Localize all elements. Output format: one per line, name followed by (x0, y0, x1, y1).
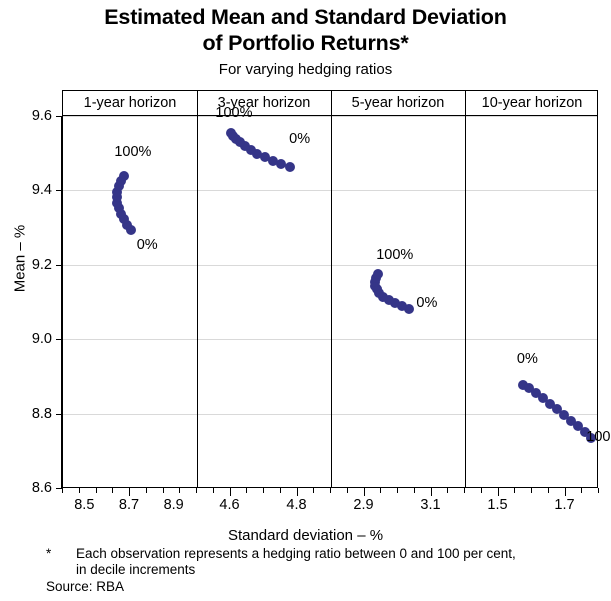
x-tick-minor (280, 488, 281, 493)
x-tick-minor (246, 488, 247, 493)
footnote-line1: Each observation represents a hedging ra… (76, 546, 516, 562)
chart-subtitle: For varying hedging ratios (0, 61, 611, 78)
x-tick-minor (213, 488, 214, 493)
annotation-0pct: 0% (137, 237, 158, 253)
x-tick-minor (481, 488, 482, 493)
x-tick-minor (347, 488, 348, 493)
annotation-100pct: 100% (586, 429, 611, 445)
panel-divider (465, 116, 466, 487)
footnote-line2: in decile increments (76, 562, 195, 578)
y-tick (56, 414, 62, 415)
y-tick (56, 190, 62, 191)
panel-divider (197, 116, 198, 487)
x-tick-label: 3.1 (408, 497, 454, 513)
panel-header-divider (197, 91, 198, 115)
x-tick-minor (380, 488, 381, 493)
x-tick-minor (79, 488, 80, 493)
plot-area: 100%0%100%0%100%0%0%100% (62, 116, 598, 488)
data-point (119, 171, 129, 181)
source-note: Source: RBA (46, 579, 124, 595)
y-tick-label: 9.6 (6, 109, 52, 123)
x-tick-minor (464, 488, 465, 493)
annotation-100pct: 100% (215, 105, 252, 121)
panel-header-3: 5-year horizon (331, 91, 465, 115)
data-point (226, 128, 236, 138)
x-tick-minor (598, 488, 599, 493)
y-tick (56, 265, 62, 266)
x-tick-label: 4.6 (207, 497, 253, 513)
panel-header-divider (331, 91, 332, 115)
x-tick-minor (196, 488, 197, 493)
chart-title-line1: Estimated Mean and Standard Deviation (0, 5, 611, 30)
annotation-0pct: 0% (289, 131, 310, 147)
x-tick-label: 8.5 (61, 497, 107, 513)
y-tick-label: 8.8 (6, 407, 52, 421)
x-tick-label: 8.9 (151, 497, 197, 513)
gridline (63, 265, 597, 266)
x-tick-major (431, 488, 432, 496)
x-tick-label: 4.8 (274, 497, 320, 513)
x-tick-label: 2.9 (341, 497, 387, 513)
panel-header-4: 10-year horizon (465, 91, 599, 115)
gridline (63, 190, 597, 191)
x-tick-label: 8.7 (106, 497, 152, 513)
y-axis-label: Mean – % (12, 179, 29, 339)
x-tick-major (230, 488, 231, 496)
annotation-100pct: 100% (114, 144, 151, 160)
x-tick-minor (514, 488, 515, 493)
gridline (63, 414, 597, 415)
x-tick-minor (447, 488, 448, 493)
panel-header-strip: 1-year horizon3-year horizon5-year horiz… (62, 90, 598, 116)
chart-figure: Estimated Mean and Standard Deviation of… (0, 0, 611, 601)
x-tick-major (565, 488, 566, 496)
x-tick-minor (581, 488, 582, 493)
data-point (373, 269, 383, 279)
x-tick-major (297, 488, 298, 496)
x-tick-major (364, 488, 365, 496)
panel-header-divider (465, 91, 466, 115)
annotation-100pct: 100% (376, 247, 413, 263)
x-tick-minor (179, 488, 180, 493)
x-tick-minor (112, 488, 113, 493)
y-tick (56, 339, 62, 340)
panel-header-1: 1-year horizon (63, 91, 197, 115)
x-tick-minor (531, 488, 532, 493)
y-tick (56, 116, 62, 117)
chart-title-line2: of Portfolio Returns* (0, 31, 611, 56)
x-tick-minor (414, 488, 415, 493)
x-tick-label: 1.7 (542, 497, 588, 513)
x-tick-major (498, 488, 499, 496)
x-axis-label: Standard deviation – % (0, 527, 611, 544)
x-tick-minor (96, 488, 97, 493)
x-tick-minor (62, 488, 63, 493)
x-tick-minor (313, 488, 314, 493)
data-point (285, 162, 295, 172)
panel-divider (331, 116, 332, 487)
annotation-0pct: 0% (517, 351, 538, 367)
x-tick-label: 1.5 (475, 497, 521, 513)
annotation-0pct: 0% (416, 295, 437, 311)
x-tick-minor (146, 488, 147, 493)
x-tick-minor (163, 488, 164, 493)
x-tick-minor (397, 488, 398, 493)
gridline (63, 116, 597, 117)
x-tick-minor (330, 488, 331, 493)
footnote-marker: * (46, 546, 51, 562)
x-tick-minor (548, 488, 549, 493)
x-axis: 8.58.78.94.64.82.93.11.51.7 (0, 488, 611, 528)
x-tick-major (129, 488, 130, 496)
x-tick-minor (263, 488, 264, 493)
gridline (63, 339, 597, 340)
